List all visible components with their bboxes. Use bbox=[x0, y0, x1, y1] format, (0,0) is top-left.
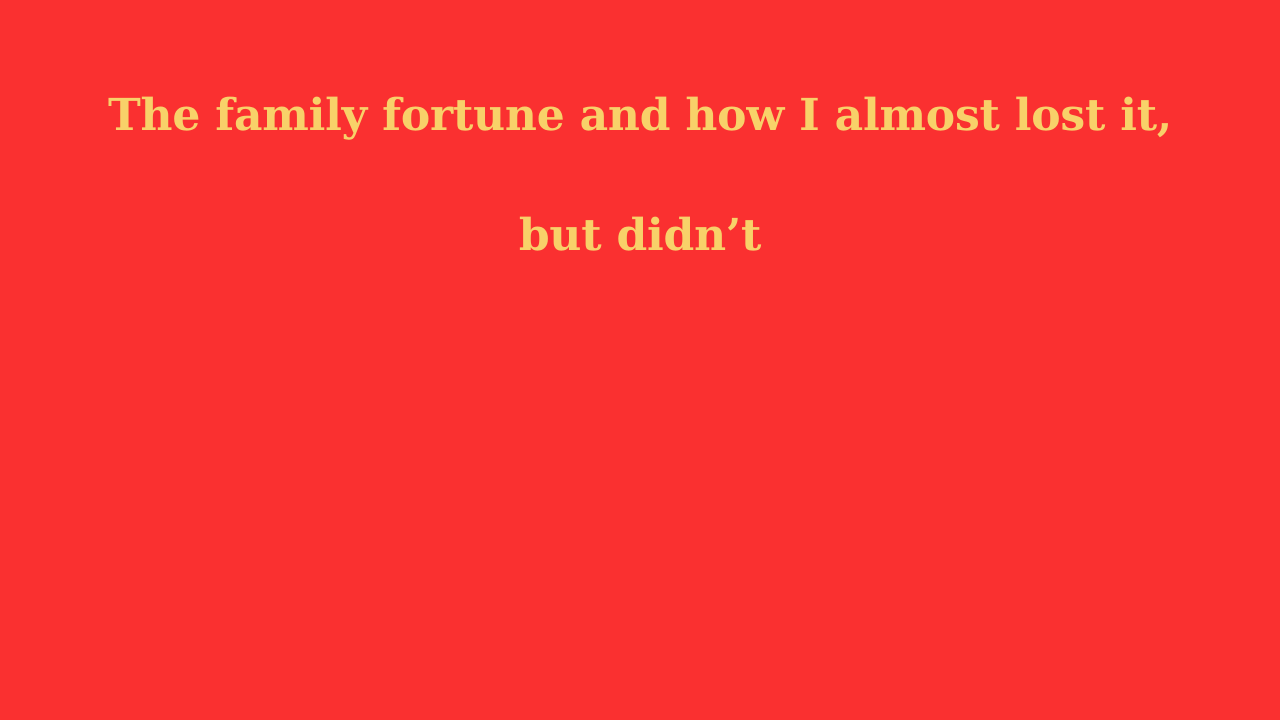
caption-line-2: but didn’t bbox=[0, 176, 1280, 296]
caption-block: The family fortune and how I almost lost… bbox=[0, 56, 1280, 296]
caption-line-1: The family fortune and how I almost lost… bbox=[0, 56, 1280, 176]
title-card-slide: The family fortune and how I almost lost… bbox=[0, 0, 1280, 720]
